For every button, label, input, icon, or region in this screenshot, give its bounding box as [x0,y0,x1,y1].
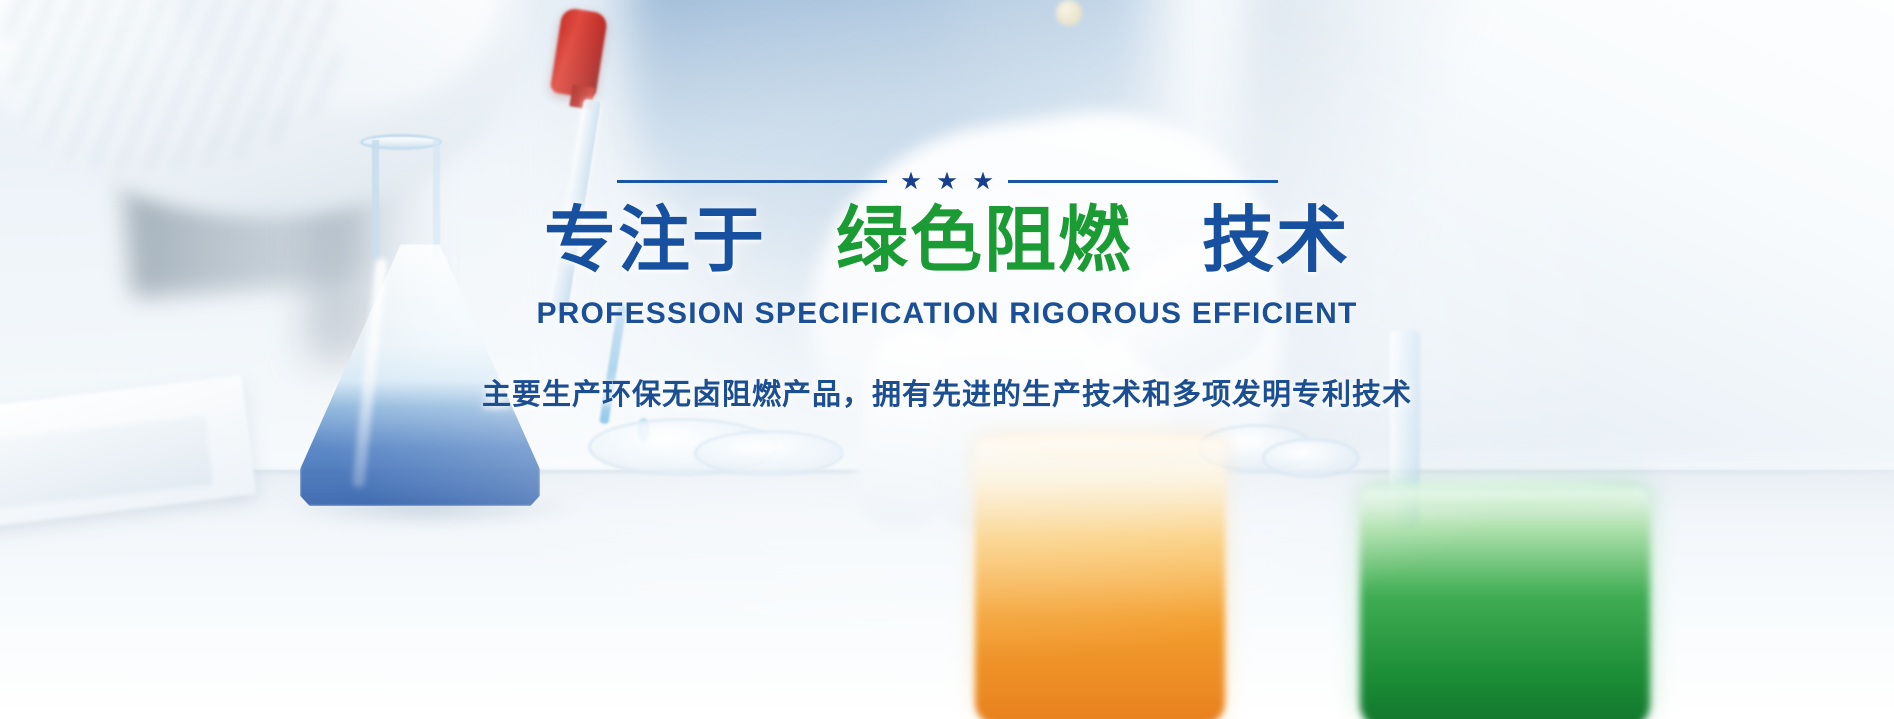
headline-part-green-flame-retardant: 绿色阻燃 [836,201,1132,281]
banner-description: 主要生产环保无卤阻燃产品，拥有先进的生产技术和多项发明专利技术 [482,371,1412,413]
hero-banner: 专注于 绿色阻燃 技术 PROFESSION SPECIFICATION RIG… [0,0,1894,719]
divider-rule-left [617,180,887,183]
star-icon [938,172,957,191]
banner-headline: 专注于 绿色阻燃 技术 [544,205,1350,277]
star-icon [974,172,993,191]
headline-part-focus: 专注于 [544,201,766,281]
headline-part-technology: 技术 [1202,201,1350,281]
decorative-divider [617,171,1277,191]
star-icon [902,172,921,191]
english-tagline: PROFESSION SPECIFICATION RIGOROUS EFFICI… [536,297,1357,331]
star-group [887,172,1008,191]
banner-content: 专注于 绿色阻燃 技术 PROFESSION SPECIFICATION RIG… [0,0,1894,719]
divider-rule-right [1008,180,1278,183]
